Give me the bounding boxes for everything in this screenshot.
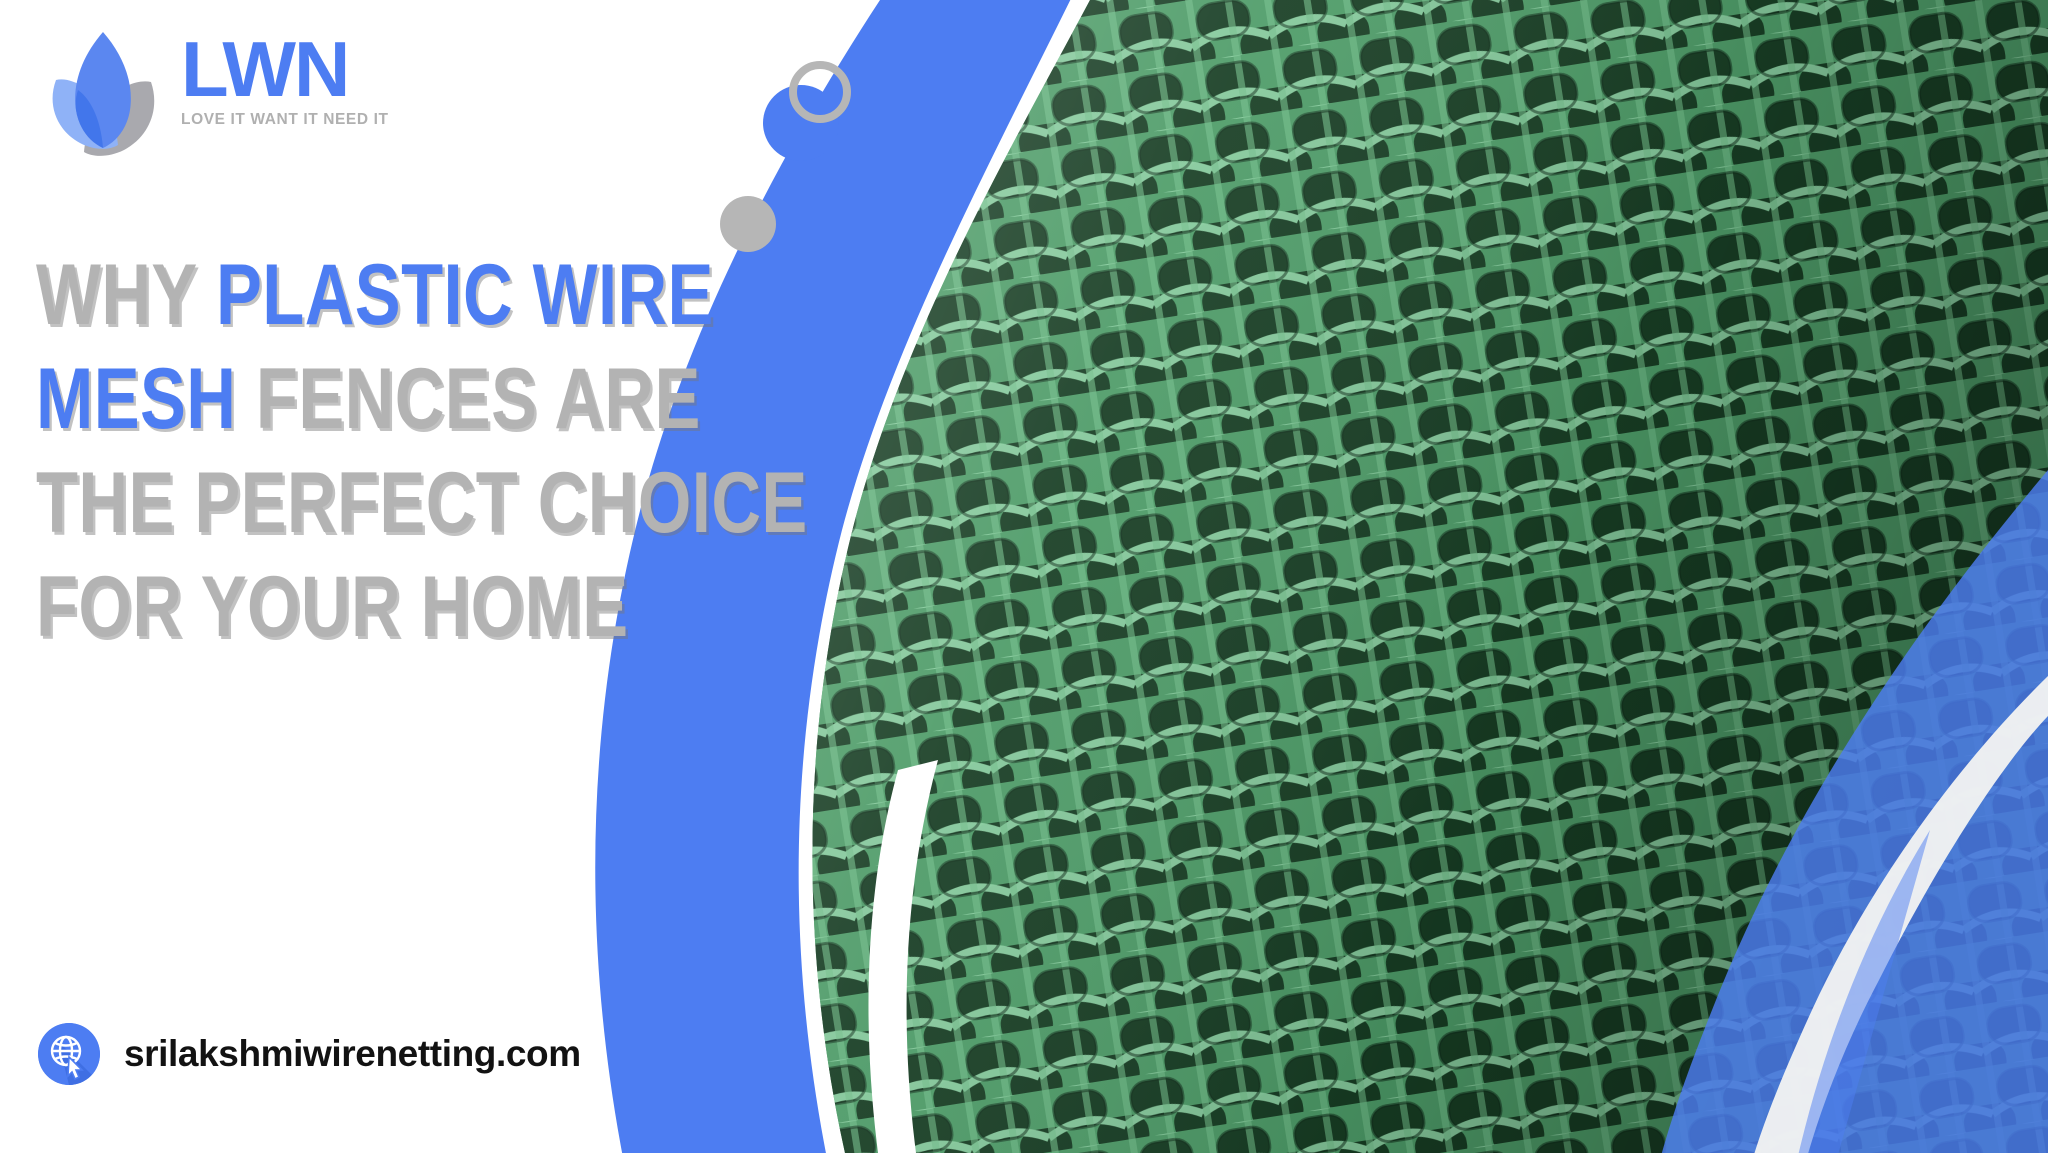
headline-line-3: THE PERFECT CHOICE [36, 451, 564, 555]
logo-tagline: LOVE IT WANT IT NEED IT [181, 111, 359, 129]
headline-line-1: WHY PLASTIC WIRE [36, 243, 564, 347]
headline-seg: PLASTIC WIRE [216, 247, 714, 343]
blue-solid-circle [763, 85, 839, 161]
headline-seg: FENCES ARE [236, 351, 700, 447]
logo-wordmark: LWN LOVE IT WANT IT NEED IT [181, 32, 391, 129]
headline-seg: WHY [36, 247, 216, 343]
headline: WHY PLASTIC WIRE MESH FENCES ARE THE PER… [36, 243, 696, 659]
gray-solid-circle [720, 196, 776, 252]
headline-seg: THE PERFECT CHOICE [36, 455, 808, 551]
website-url[interactable]: srilakshmiwirenetting.com [124, 1033, 581, 1075]
headline-seg: FOR YOUR HOME [36, 559, 629, 655]
logo-word-lwn: LWN [181, 32, 391, 107]
globe-icon-svg [38, 1023, 100, 1085]
headline-line-2: MESH FENCES ARE [36, 347, 564, 451]
lotus-leaf-logo-icon [38, 24, 170, 160]
promo-banner: LWN LOVE IT WANT IT NEED IT WHY PLASTIC … [0, 0, 2048, 1153]
globe-cursor-icon[interactable] [38, 1023, 100, 1085]
brand-logo[interactable]: LWN LOVE IT WANT IT NEED IT [38, 20, 398, 160]
headline-line-4: FOR YOUR HOME [36, 555, 564, 659]
headline-seg: MESH [36, 351, 236, 447]
website-row[interactable]: srilakshmiwirenetting.com [38, 1023, 581, 1085]
